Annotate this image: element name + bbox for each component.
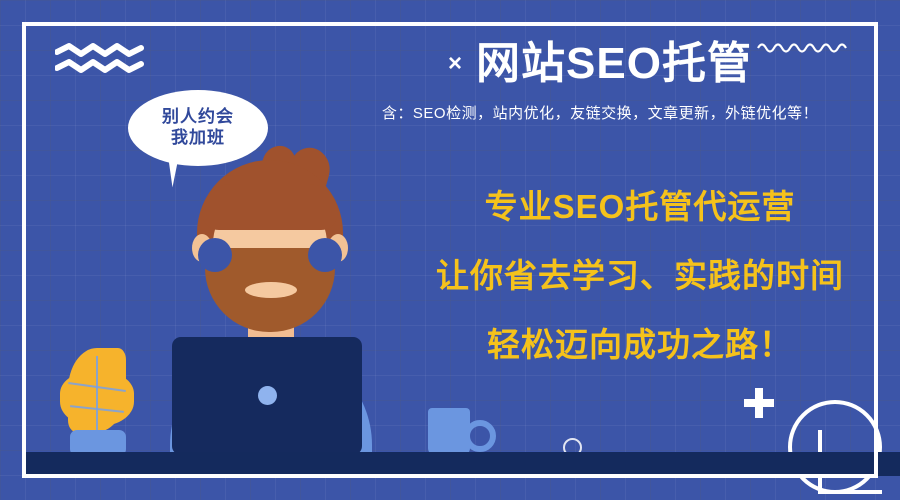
x-mark-icon: × xyxy=(448,52,462,76)
beard-notch-right xyxy=(308,238,342,272)
pitch-line-2: 让你省去学习、实践的时间 xyxy=(400,259,880,292)
mug-body xyxy=(428,408,470,456)
seo-promo-banner: × 网站SEO托管 含：SEO检测，站内优化，友链交换，文章更新，外链优化等！ … xyxy=(0,0,900,500)
subtitle: 含：SEO检测，站内优化，友链交换，文章更新，外链优化等！ xyxy=(330,102,870,123)
beard-notch-left xyxy=(198,238,232,272)
plus-mark-icon xyxy=(744,388,774,418)
speech-bubble-line-1: 别人约会 xyxy=(162,107,234,128)
desk-surface xyxy=(26,452,900,476)
wave-lines-icon xyxy=(55,42,145,78)
pitch-line-3: 轻松迈向成功之路！ xyxy=(400,328,880,361)
coffee-mug xyxy=(428,408,484,456)
plant-stem xyxy=(96,356,98,438)
headline-block: × 网站SEO托管 含：SEO检测，站内优化，友链交换，文章更新，外链优化等！ xyxy=(330,40,870,123)
pitch-line-1: 专业SEO托管代运营 xyxy=(400,190,880,223)
hair-fringe xyxy=(202,184,338,230)
corner-circle-icon xyxy=(788,400,882,494)
speech-bubble-body: 别人约会 我加班 xyxy=(128,90,268,166)
speech-bubble-line-2: 我加班 xyxy=(171,128,225,149)
page-title: 网站SEO托管 xyxy=(476,40,752,88)
title-row: × 网站SEO托管 xyxy=(330,40,870,88)
laptop-logo-icon xyxy=(258,386,277,405)
mouth xyxy=(245,282,297,298)
potted-plant xyxy=(58,348,138,456)
pitch-block: 专业SEO托管代运营 让你省去学习、实践的时间 轻松迈向成功之路！ xyxy=(400,190,880,361)
laptop xyxy=(172,337,362,455)
